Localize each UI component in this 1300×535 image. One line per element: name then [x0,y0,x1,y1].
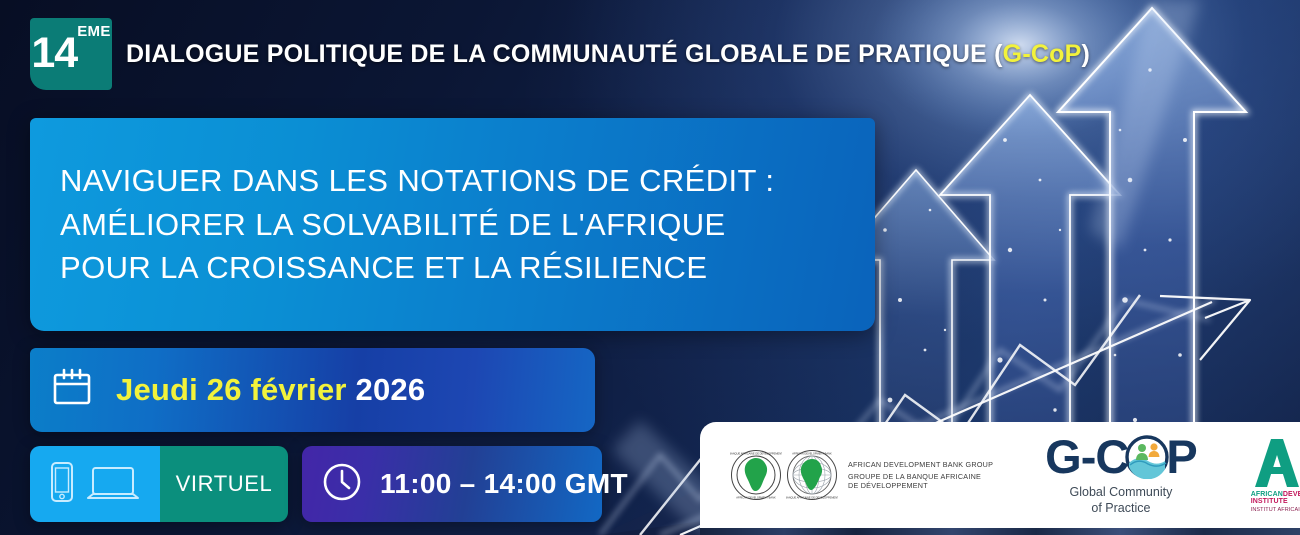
gcop-globe-icon [1125,435,1169,479]
afdb-seal-icon: BANQUE AFRICAINE DE DEVELOPPEMENT AFRICA… [730,449,782,501]
svg-text:AFRICAN DEVELOPMENT BANK: AFRICAN DEVELOPMENT BANK [792,452,832,456]
adi-logo: AFRICANDEVELOPMENT INSTITUTE INSTITUT AF… [1251,437,1300,513]
format-label: VIRTUEL [160,446,288,522]
device-icons [30,446,160,522]
event-series-title: DIALOGUE POLITIQUE DE LA COMMUNAUTÉ GLOB… [126,40,1090,69]
svg-text:BANQUE AFRICAINE DE DEVELOPPEM: BANQUE AFRICAINE DE DEVELOPPEMENT [786,496,838,500]
adi-word-development: DEVELOPMENT [1283,491,1300,498]
afdb-wordmark: AFRICAN DEVELOPMENT BANK GROUP GROUPE DE… [848,460,993,490]
event-date: Jeudi 26 février 2026 [116,372,425,408]
edition-badge: 14 EME [30,18,112,90]
afdb-name-fr-1: GROUPE DE LA BANQUE AFRICAINE [848,472,993,481]
edition-number: 14 [31,32,77,75]
gcop-letter-g: G [1045,433,1081,480]
banner-header: 14 EME DIALOGUE POLITIQUE DE LA COMMUNAU… [30,18,1090,90]
sponsor-logo-panel: BANQUE AFRICAINE DE DEVELOPPEMENT AFRICA… [700,422,1300,528]
laptop-icon [85,460,141,509]
afdb-globe-icon: AFRICAN DEVELOPMENT BANK BANQUE AFRICAIN… [786,449,838,501]
event-date-day: Jeudi 26 février [116,372,347,407]
gcop-letter-p: P [1166,433,1196,480]
time-badge: 11:00 – 14:00 GMT [302,446,602,522]
gcop-letter-c: C [1095,433,1128,480]
gcop-dash: - [1081,433,1096,480]
gcop-subtitle-line-1: Global Community [1070,485,1173,501]
main-title-line-1: NAVIGUER DANS LES NOTATIONS DE CRÉDIT : [60,159,875,202]
main-title-box: NAVIGUER DANS LES NOTATIONS DE CRÉDIT : … [30,118,875,331]
adi-subtitle: INSTITUT AFRICAIN DE DÉVELOPPEMENT [1251,507,1300,513]
adi-wordmark: AFRICANDEVELOPMENT INSTITUTE [1251,491,1300,505]
adi-word-institute: INSTITUTE [1251,498,1288,505]
mobile-phone-icon [49,460,75,509]
afdb-name-fr-2: DE DÉVELOPPEMENT [848,481,993,490]
calendar-icon [50,366,94,415]
edition-suffix: EME [77,23,110,40]
afdb-logo: BANQUE AFRICAINE DE DEVELOPPEMENT AFRICA… [730,449,993,501]
adi-word-african: AFRICAN [1251,491,1283,498]
clock-icon [320,460,364,509]
date-bar: Jeudi 26 février 2026 [30,348,595,432]
svg-text:BANQUE AFRICAINE DE DEVELOPPEM: BANQUE AFRICAINE DE DEVELOPPEMENT [730,452,782,456]
series-title-close: ) [1081,40,1090,68]
gcop-logo: G - C P [1045,433,1197,516]
series-title-accent: G-CoP [1003,40,1082,68]
afdb-name-en: AFRICAN DEVELOPMENT BANK GROUP [848,460,993,469]
adi-monogram-icon [1251,437,1300,489]
main-title-line-2: AMÉLIORER LA SOLVABILITÉ DE L'AFRIQUE [60,203,875,246]
svg-text:AFRICAN DEVELOPMENT BANK: AFRICAN DEVELOPMENT BANK [736,496,776,500]
series-title-main: DIALOGUE POLITIQUE DE LA COMMUNAUTÉ GLOB… [126,40,1003,68]
format-badge: VIRTUEL [30,446,288,522]
main-title-line-3: POUR LA CROISSANCE ET LA RÉSILIENCE [60,246,875,289]
event-time: 11:00 – 14:00 GMT [380,468,628,500]
event-date-year: 2026 [356,372,426,407]
gcop-subtitle-line-2: of Practice [1070,501,1173,517]
event-banner: 14 EME DIALOGUE POLITIQUE DE LA COMMUNAU… [0,0,1300,535]
panel-bottom-strip [700,528,1300,535]
